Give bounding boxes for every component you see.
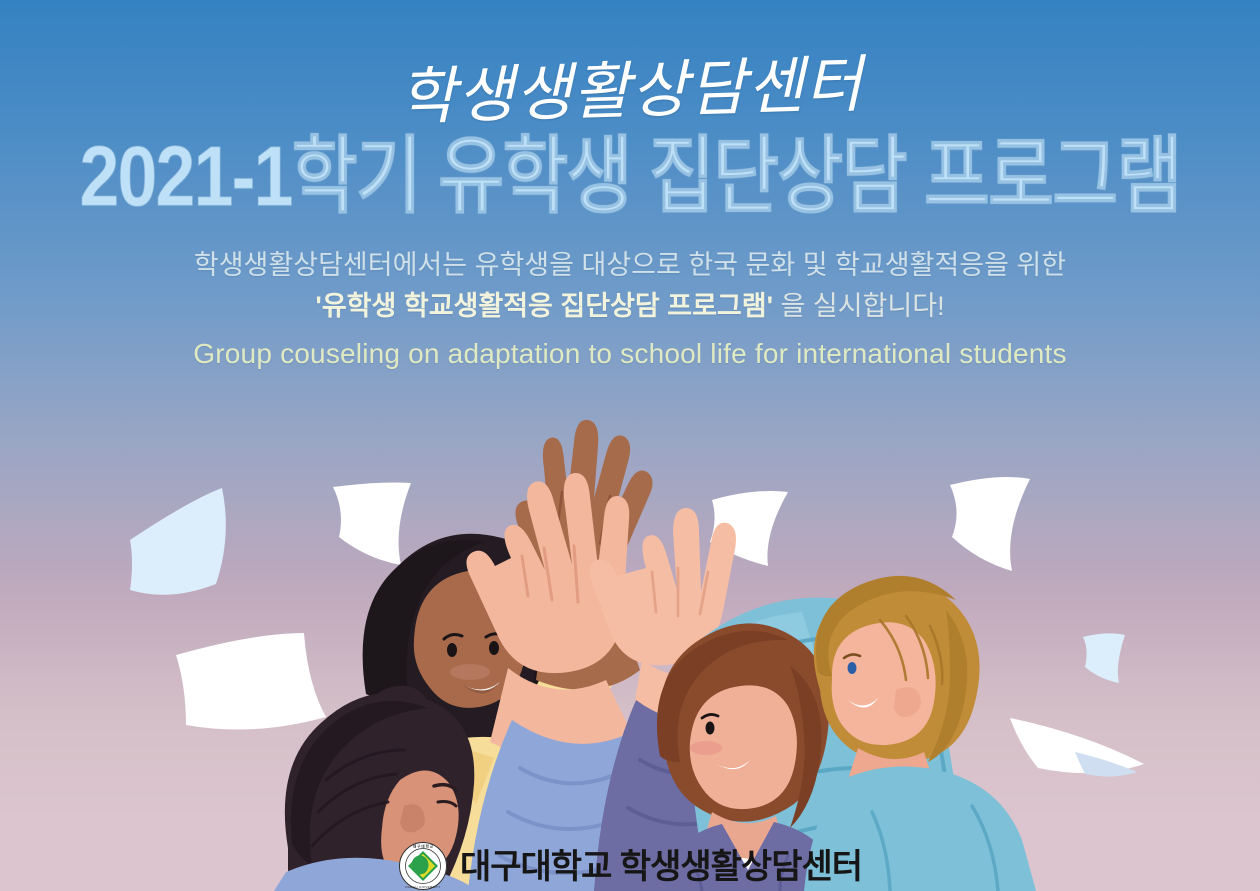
- poster-text-block: 학생생활상담센터 2021-1학기 유학생 집단상담 프로그램 학생생활상담센터…: [0, 0, 1260, 375]
- description-english: Group couseling on adaptation to school …: [0, 327, 1260, 376]
- daegu-university-emblem-icon: 대 구 대 학 교 DAEGU UNIVERSITY: [398, 841, 448, 891]
- program-name-emphasis: '유학생 학교생활적응 집단상담 프로그램': [315, 291, 773, 321]
- description-block: 학생생활상담센터에서는 유학생을 대상으로 한국 문화 및 학교생활적응을 위한…: [0, 209, 1260, 376]
- svg-text:DAEGU UNIVERSITY: DAEGU UNIVERSITY: [405, 885, 440, 889]
- footer-organization-label: 대구대학교 학생생활상담센터: [460, 850, 862, 884]
- description-line-2: '유학생 학교생활적응 집단상담 프로그램' 을 실시합니다!: [0, 286, 1260, 327]
- page-subtitle-brush: 학생생활상담센터: [0, 0, 1260, 141]
- svg-text:대 구 대 학 교: 대 구 대 학 교: [413, 844, 434, 849]
- page-title: 2021-1학기 유학생 집단상담 프로그램: [0, 123, 1260, 224]
- poster-root: 학생생활상담센터 2021-1학기 유학생 집단상담 프로그램 학생생활상담센터…: [0, 0, 1260, 891]
- footer-bar: 대 구 대 학 교 DAEGU UNIVERSITY 대구대학교 학생생활상담센…: [0, 837, 1260, 891]
- description-line-1: 학생생활상담센터에서는 유학생을 대상으로 한국 문화 및 학교생활적응을 위한: [0, 245, 1260, 286]
- description-line-2-tail: 을 실시합니다!: [773, 291, 945, 321]
